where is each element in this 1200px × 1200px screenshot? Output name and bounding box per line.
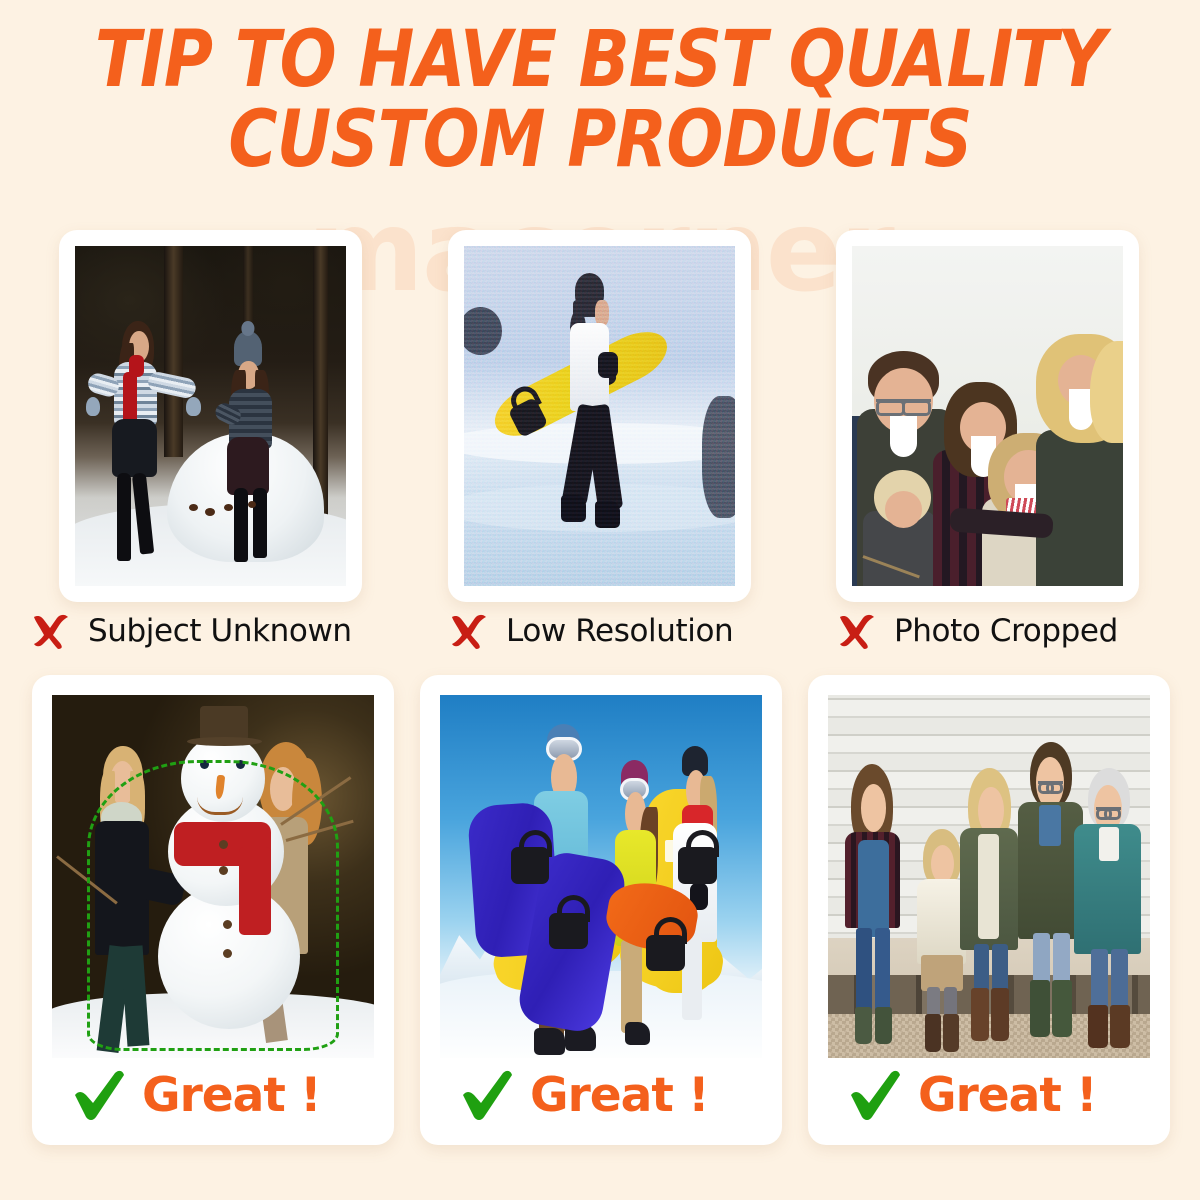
check-mark-icon [848,1070,902,1122]
example-card-subject-unknown [59,230,362,602]
verdict-label: Photo Cropped [894,613,1118,649]
photo-three-snowboarders [440,695,762,1058]
x-mark-icon [448,611,492,651]
example-card-great-family: Great ! [808,675,1170,1145]
example-card-great-snowman: Great ! [32,675,394,1145]
example-card-photo-cropped [836,230,1139,602]
x-mark-icon [836,611,880,651]
photo-lowres-snowboarder [464,246,735,586]
example-card-great-snowboarders: Great ! [420,675,782,1145]
x-mark-icon [30,611,74,651]
tips-infographic: macorner TIP TO HAVE BEST QUALITY CUSTOM… [0,0,1200,1200]
verdict-low-resolution: Low Resolution [448,608,733,654]
verdict-photo-cropped: Photo Cropped [836,608,1118,654]
verdict-subject-unknown: Subject Unknown [30,608,352,654]
page-title: TIP TO HAVE BEST QUALITY CUSTOM PRODUCTS [84,20,1116,181]
photo-cropped-family [852,246,1123,586]
verdict-great-snowboarders: Great ! [460,1068,709,1123]
verdict-label: Subject Unknown [88,613,352,649]
verdict-label: Low Resolution [506,613,733,649]
verdict-great-snowman: Great ! [72,1068,321,1123]
verdict-label: Great ! [918,1068,1097,1123]
verdict-label: Great ! [142,1068,321,1123]
check-mark-icon [460,1070,514,1122]
verdict-great-family: Great ! [848,1068,1097,1123]
check-mark-icon [72,1070,126,1122]
verdict-label: Great ! [530,1068,709,1123]
photo-snowman-two-women [52,695,374,1058]
photo-family-barn-wall [828,695,1150,1058]
example-card-low-resolution [448,230,751,602]
photo-two-women-snow-pile [75,246,346,586]
